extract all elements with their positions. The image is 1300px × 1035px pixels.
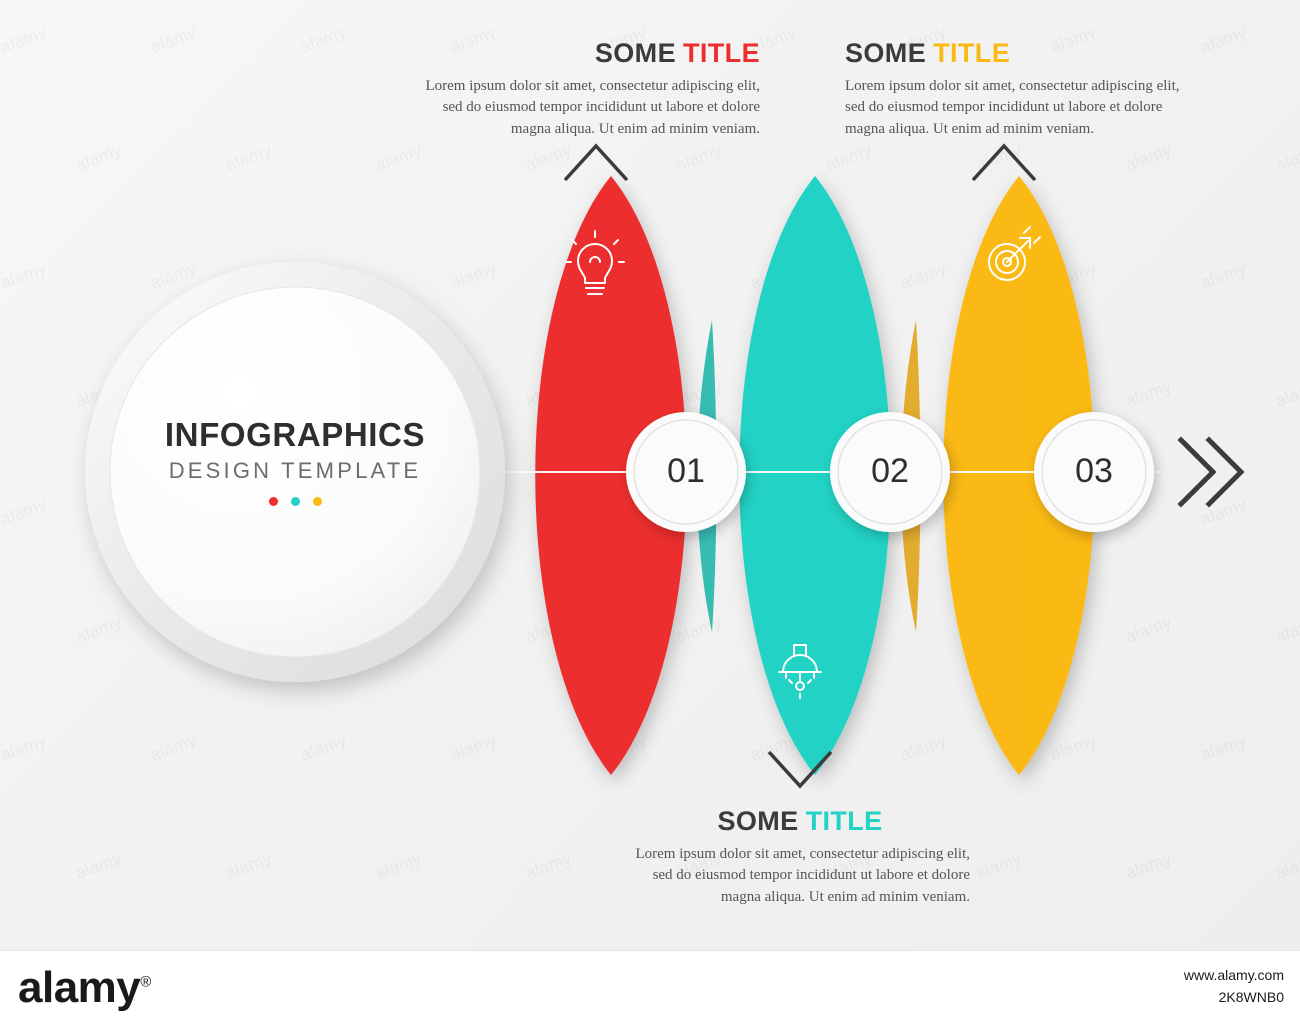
callout-title-accent-1: TITLE <box>683 38 760 68</box>
callout-block-1: SOMETITLE Lorem ipsum dolor sit amet, co… <box>418 40 760 140</box>
footer-meta: www.alamy.com 2K8WNB0 <box>1184 965 1284 1008</box>
callout-block-3: SOMETITLE Lorem ipsum dolor sit amet, co… <box>630 808 970 908</box>
callout-chevron-up-2 <box>973 146 1035 180</box>
alamy-wordmark: alamy <box>18 963 140 1012</box>
footer-image-id: 2K8WNB0 <box>1184 987 1284 1009</box>
callout-title-3: SOMETITLE <box>630 808 970 835</box>
callout-body-1: Lorem ipsum dolor sit amet, consectetur … <box>418 76 760 140</box>
callout-title-accent-2: TITLE <box>933 38 1010 68</box>
callout-block-2: SOMETITLE Lorem ipsum dolor sit amet, co… <box>845 40 1185 140</box>
alamy-logo: alamy® <box>18 963 151 1013</box>
callout-title-plain-2: SOME <box>845 38 926 68</box>
callout-title-2: SOMETITLE <box>845 40 1185 67</box>
step-bubble-2[interactable] <box>830 412 950 532</box>
callout-body-2: Lorem ipsum dolor sit amet, consectetur … <box>845 76 1185 140</box>
step-bubble-3[interactable] <box>1034 412 1154 532</box>
step-bubble-1[interactable] <box>626 412 746 532</box>
callout-chevron-up-1 <box>565 146 627 180</box>
stock-footer-bar: alamy® www.alamy.com 2K8WNB0 <box>0 950 1300 1035</box>
footer-url: www.alamy.com <box>1184 965 1284 987</box>
infographic-canvas: alamyalamyalamyalamyalamyalamyalamyalamy… <box>0 0 1300 1035</box>
callout-title-accent-3: TITLE <box>806 806 883 836</box>
double-chevron-right-icon <box>1181 440 1241 504</box>
callout-title-plain-3: SOME <box>717 806 798 836</box>
alamy-trademark: ® <box>140 973 151 990</box>
center-circle[interactable] <box>85 262 505 682</box>
callout-title-1: SOMETITLE <box>418 40 760 67</box>
callout-title-plain-1: SOME <box>595 38 676 68</box>
callout-body-3: Lorem ipsum dolor sit amet, consectetur … <box>630 844 970 908</box>
